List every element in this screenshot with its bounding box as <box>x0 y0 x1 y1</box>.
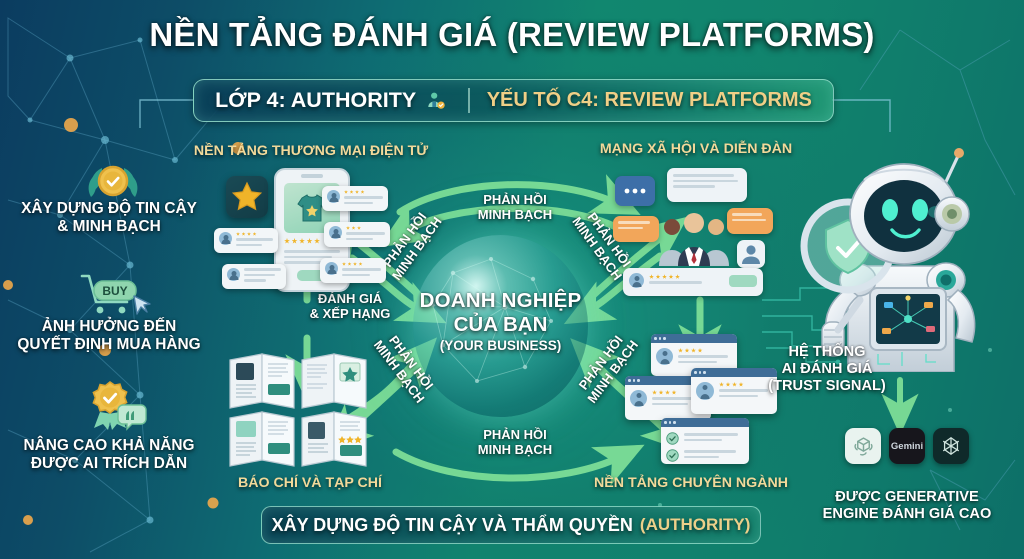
node-label-ecommerce: NỀN TẢNG THƯƠNG MẠI ĐIỆN TỬ <box>175 143 447 159</box>
avatar <box>696 382 714 400</box>
center-line-3: (YOUR BUSINESS) <box>398 338 603 354</box>
open-books-icon <box>228 352 378 470</box>
social-review-card <box>623 268 763 296</box>
star-tile-icon <box>226 176 268 218</box>
left-caption-1: XÂY DỰNG ĐỘ TIN CẬY & MINH BẠCH <box>0 200 222 236</box>
comment-bubble <box>667 168 747 202</box>
svg-text:BUY: BUY <box>102 284 127 298</box>
node-press-icon <box>228 352 378 470</box>
openai-badge[interactable] <box>845 428 881 464</box>
node-social-icon <box>615 166 775 296</box>
center-business-label: DOANH NGHIỆP CỦA BẠN (YOUR BUSINESS) <box>398 289 603 353</box>
check-circle-icon <box>666 432 679 445</box>
chat-bubble-icon <box>615 176 655 206</box>
generative-engine-caption: ĐƯỢC GENERATIVE ENGINE ĐÁNH GIÁ CAO <box>800 489 1014 523</box>
center-line-1: DOANH NGHIỆP <box>398 289 603 313</box>
gemini-badge[interactable]: Gemini <box>889 428 925 464</box>
avatar <box>327 190 340 203</box>
robot-caption: HỆ THỐNG AI ĐÁNH GIÁ (TRUST SIGNAL) <box>752 344 902 395</box>
layer-badge-bar: LỚP 4: AUTHORITY YẾU TỐ C4: REVIEW PLATF… <box>193 79 834 122</box>
avatar-bubble <box>737 240 765 268</box>
node-label-press: BÁO CHÍ VÀ TẠP CHÍ <box>210 475 410 491</box>
bottom-banner: XÂY DỰNG ĐỘ TIN CẬY VÀ THẨM QUYỀN (AUTHO… <box>261 506 761 544</box>
review-bubble <box>320 258 386 283</box>
infographic-canvas: NỀN TẢNG ĐÁNH GIÁ (REVIEW PLATFORMS) LỚP… <box>0 0 1024 559</box>
avatar <box>227 268 240 281</box>
ai-robot-magnifier-icon <box>786 140 1016 372</box>
node-ecommerce-icon <box>220 168 385 293</box>
comment-bubble <box>613 216 659 242</box>
people-group-icon <box>655 210 733 266</box>
phone-notch <box>301 174 323 178</box>
product-rating-stars <box>284 238 320 244</box>
factor-label: YẾU TỐ C4: REVIEW PLATFORMS <box>487 89 812 112</box>
review-bubble <box>324 222 390 247</box>
review-bubble <box>214 228 278 253</box>
left-caption-2: ẢNH HƯỞNG ĐẾN QUYẾT ĐỊNH MUA HÀNG <box>0 318 222 354</box>
center-line-2: CỦA BẠN <box>398 313 603 337</box>
user-badge-icon <box>425 90 447 112</box>
avatar <box>329 226 342 239</box>
avatar <box>325 262 338 275</box>
avatar <box>656 348 673 365</box>
layer-label: LỚP 4: AUTHORITY <box>215 88 416 113</box>
node-label-niche: NỀN TẢNG CHUYÊN NGÀNH <box>578 475 804 491</box>
avatar <box>219 232 232 245</box>
review-bubble <box>222 264 286 289</box>
divider <box>468 88 470 113</box>
left-caption-3: NÂNG CAO KHẢ NĂNG ĐƯỢC AI TRÍCH DẪN <box>0 437 222 473</box>
flow-label-rating: ĐÁNH GIÁ & XẾP HẠNG <box>300 291 400 322</box>
avatar <box>629 273 644 288</box>
check-circle-icon <box>666 449 679 462</box>
page-title: NỀN TẢNG ĐÁNH GIÁ (REVIEW PLATFORMS) <box>0 16 1024 54</box>
avatar <box>630 390 647 407</box>
shopping-cart-buy-icon: BUY <box>72 270 156 318</box>
review-card <box>661 418 749 464</box>
ai-engine-badges: Gemini <box>845 428 969 464</box>
comment-bubble <box>727 208 773 234</box>
banner-main-text: XÂY DỰNG ĐỘ TIN CẬY VÀ THẨM QUYỀN <box>272 515 633 536</box>
banner-accent-text: (AUTHORITY) <box>640 515 750 535</box>
tag-chip <box>729 275 757 287</box>
flow-label-bottom: PHẢN HỒI MINH BẠCH <box>440 427 590 458</box>
review-bubble <box>322 186 388 211</box>
perplexity-badge[interactable] <box>933 428 969 464</box>
node-label-social: MẠNG XÃ HỘI VÀ DIỄN ĐÀN <box>572 141 820 157</box>
award-quote-icon <box>74 378 156 434</box>
